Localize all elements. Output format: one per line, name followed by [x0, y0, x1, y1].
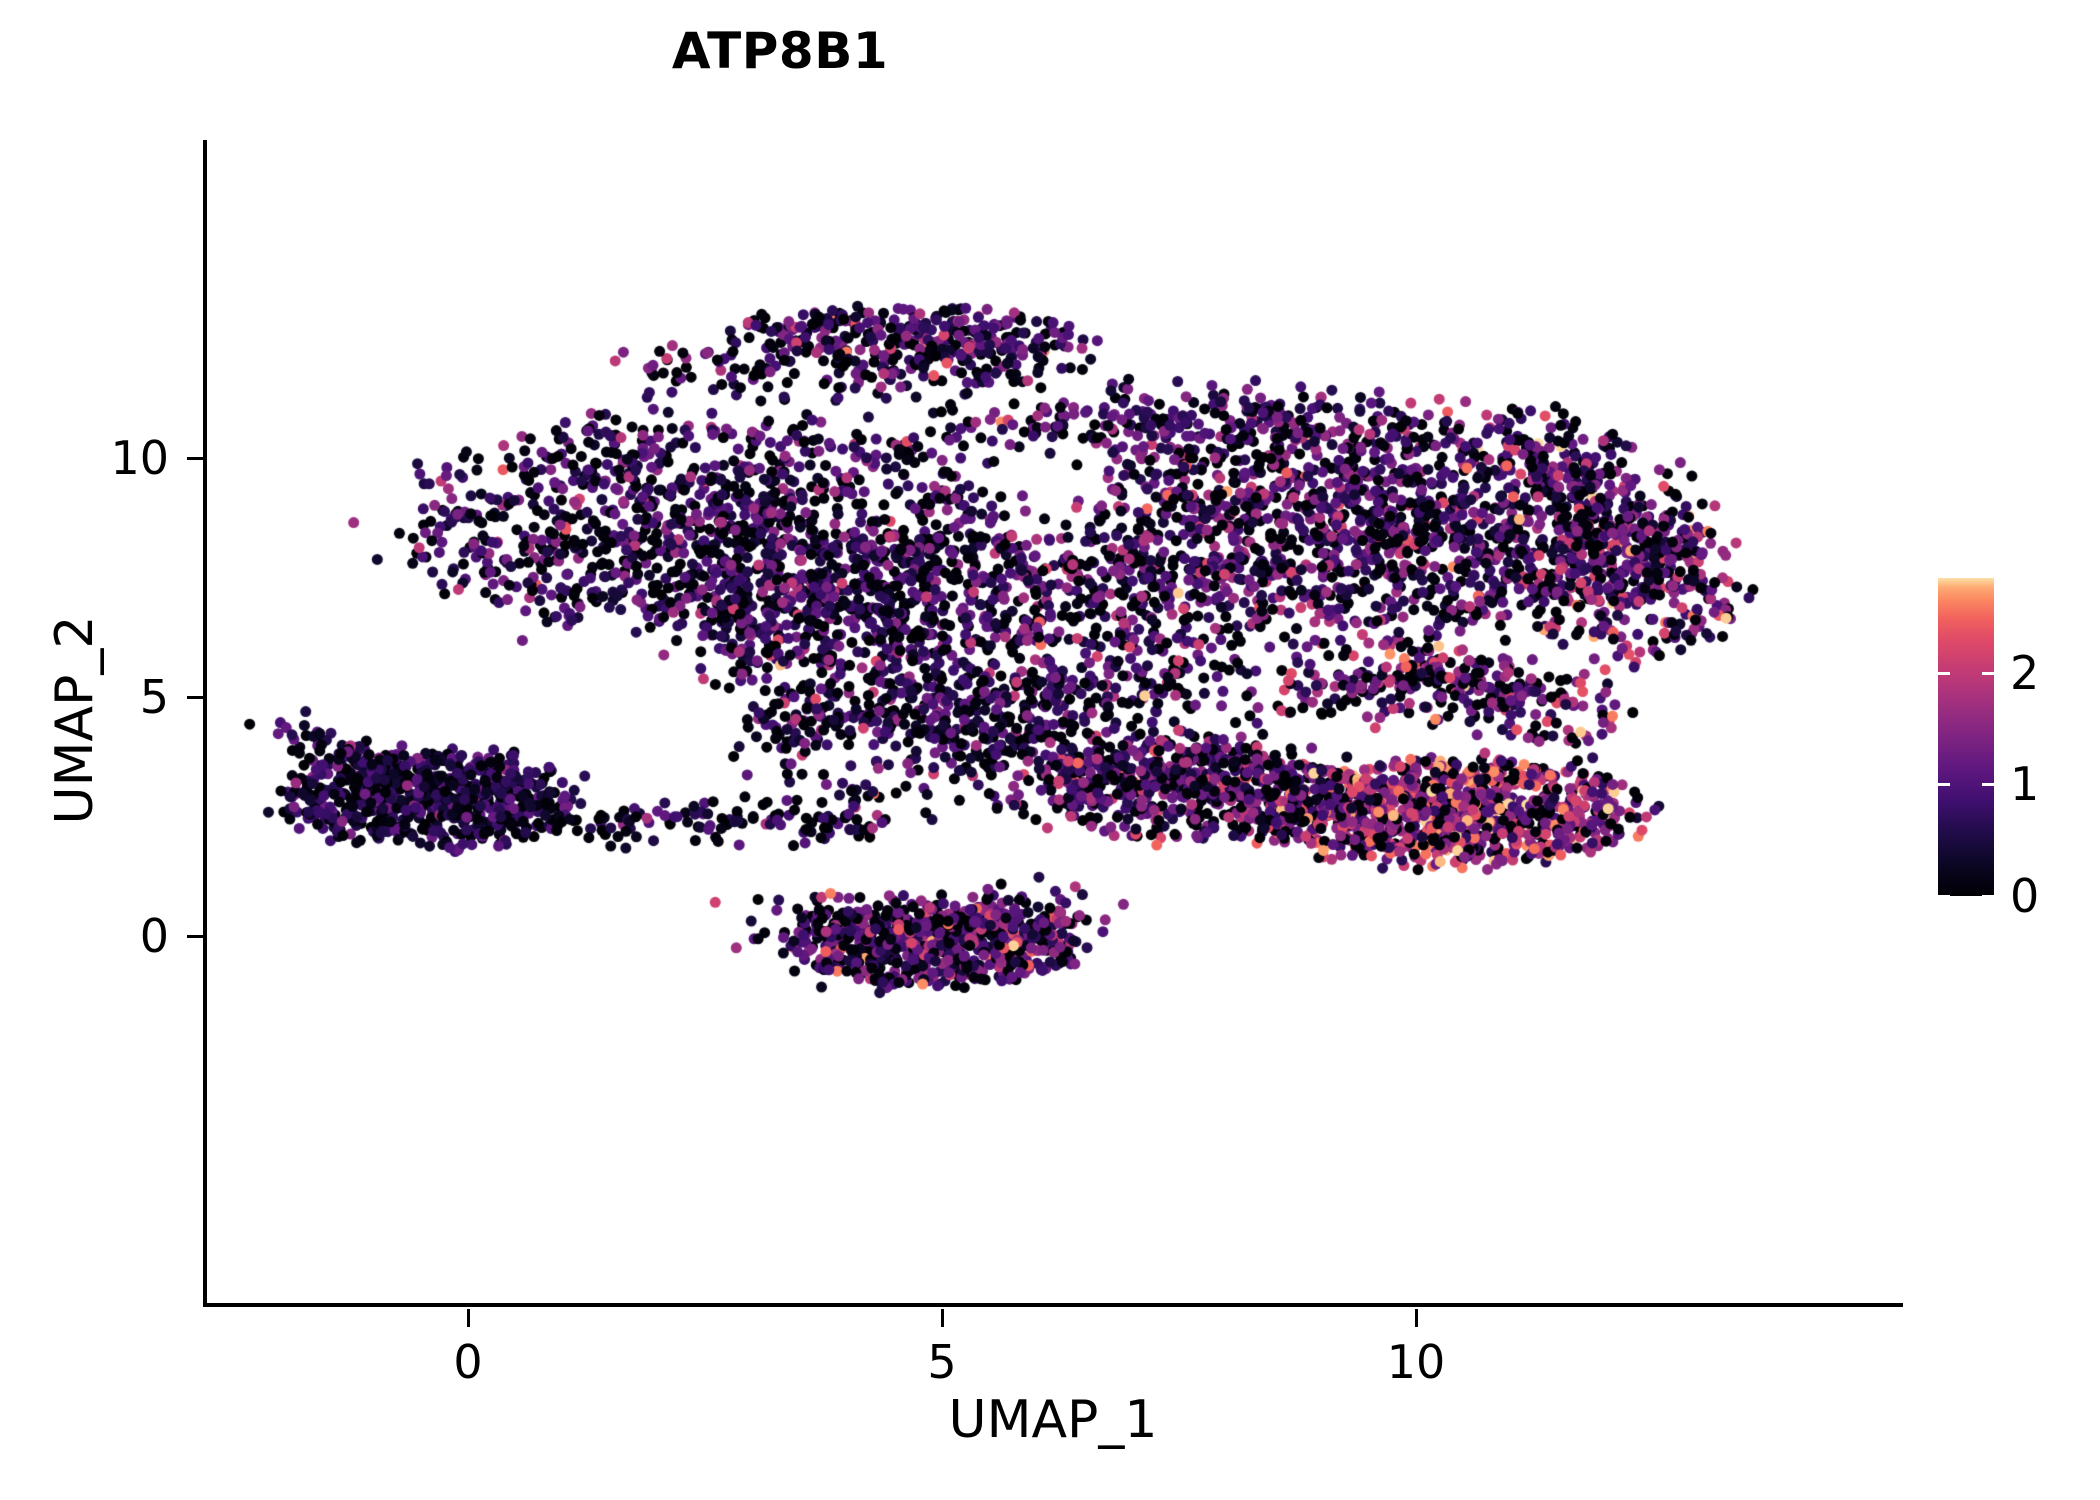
page-title: ATP8B1 — [0, 22, 1560, 80]
colorbar-tick-mark — [1982, 672, 1994, 675]
colorbar-tick-label: 1 — [2010, 761, 2039, 807]
colorbar-tick-mark — [1938, 895, 1950, 898]
scatter-plot-canvas — [205, 140, 1905, 1305]
x-tick-mark — [467, 1309, 470, 1327]
y-axis-label: UMAP_2 — [45, 370, 105, 1070]
colorbar-tick-mark — [1938, 672, 1950, 675]
colorbar-tick-label: 2 — [2010, 650, 2039, 696]
colorbar-tick-mark — [1982, 895, 1994, 898]
x-tick-mark — [1415, 1309, 1418, 1327]
colorbar-tick-mark — [1982, 783, 1994, 786]
colorbar-tick-mark — [1938, 783, 1950, 786]
y-tick-mark — [187, 457, 205, 460]
feature-plot-root: ATP8B1 0510 0510 UMAP_1 UMAP_2 012 — [0, 0, 2100, 1500]
colorbar-legend: 012 — [1938, 578, 1994, 896]
x-tick-label: 0 — [368, 1339, 568, 1385]
colorbar-gradient — [1938, 578, 1994, 896]
x-tick-mark — [941, 1309, 944, 1327]
x-tick-label: 5 — [842, 1339, 1042, 1385]
x-tick-label: 10 — [1316, 1339, 1516, 1385]
colorbar-tick-label: 0 — [2010, 873, 2039, 919]
y-tick-mark — [187, 935, 205, 938]
y-tick-mark — [187, 696, 205, 699]
x-axis-label: UMAP_1 — [203, 1390, 1903, 1450]
